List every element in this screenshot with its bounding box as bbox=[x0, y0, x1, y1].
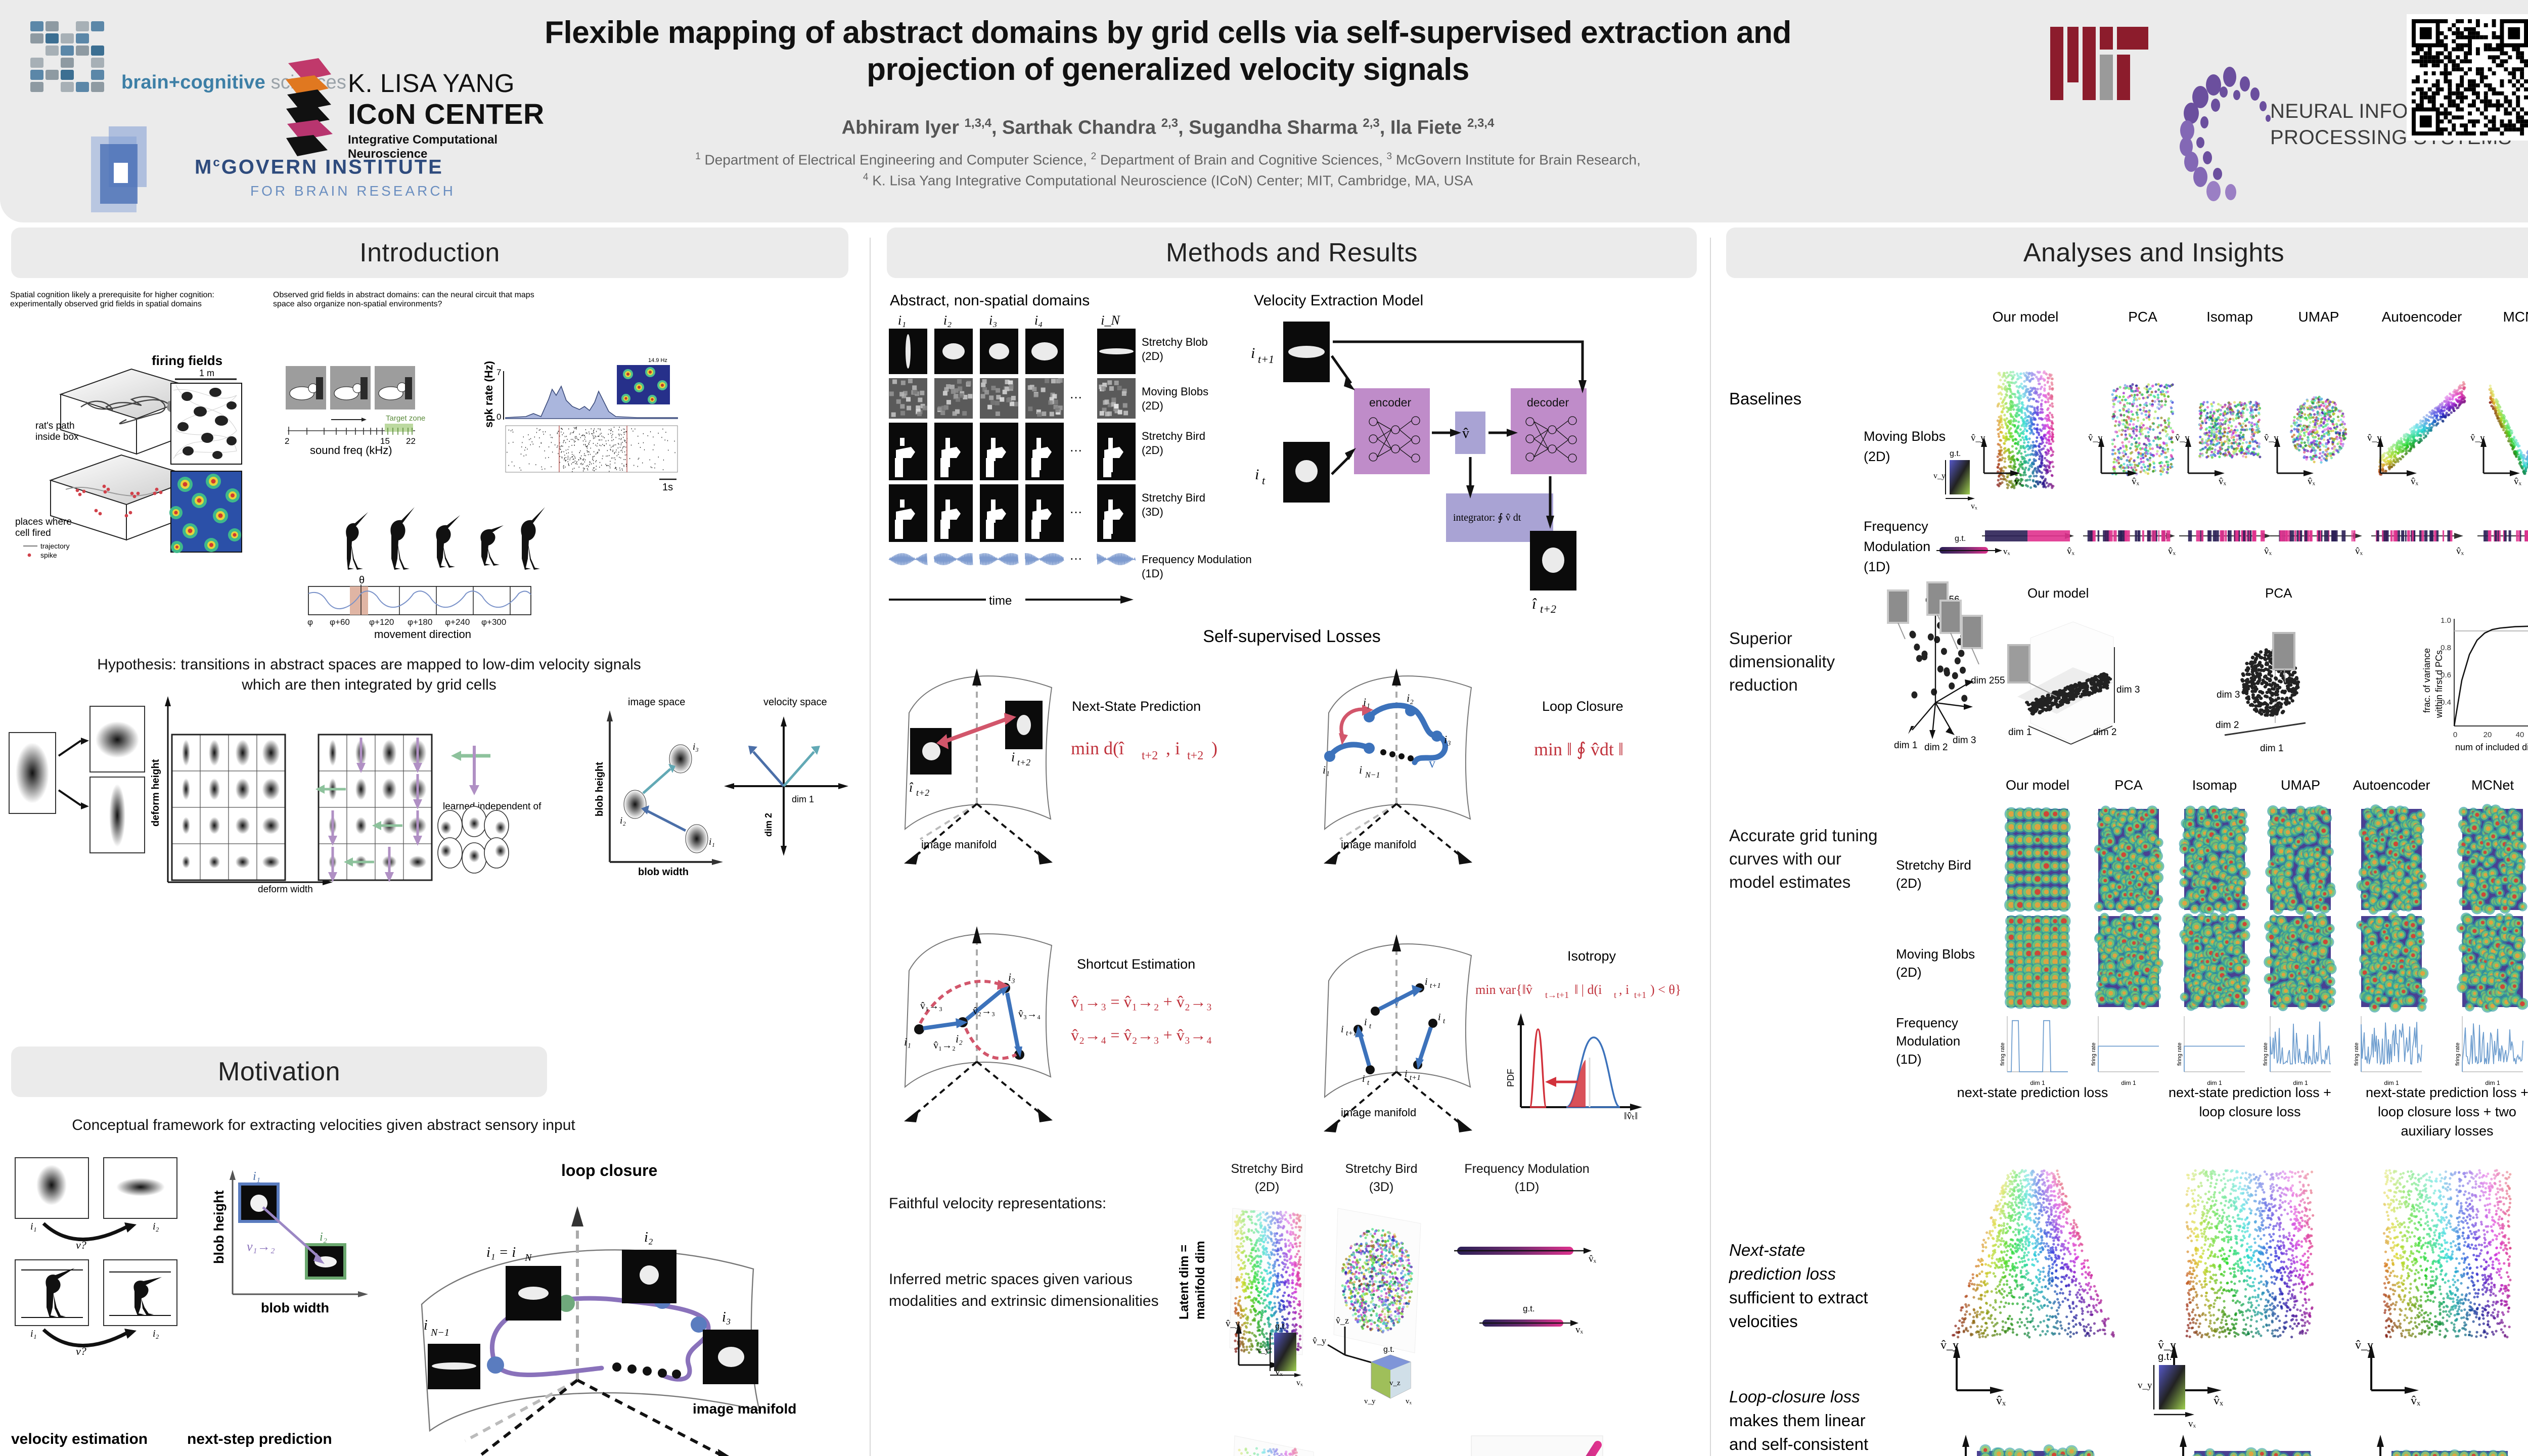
qr-code[interactable] bbox=[2407, 14, 2528, 141]
motivation-velocity-question-figure: i₁ i₂ v? i₁ i₂ v? bbox=[10, 1153, 192, 1390]
faithful-col-3b: (1D) bbox=[1515, 1180, 1540, 1194]
column-analyses-insights: Analyses and Insights Baselines Our mode… bbox=[1719, 227, 2528, 1456]
ablation-figure: next-state prediction lossnext-state pre… bbox=[1876, 1082, 2528, 1456]
svg-text:t+1: t+1 bbox=[1410, 1074, 1421, 1082]
svg-text:Isomap: Isomap bbox=[2206, 309, 2253, 325]
xtick-3: 40 bbox=[2516, 731, 2524, 739]
svg-text:…: … bbox=[1069, 439, 1082, 454]
svg-text:…: … bbox=[1069, 386, 1082, 401]
svg-text:v̂_y: v̂_y bbox=[1313, 1336, 1326, 1346]
svg-text:i₂: i₂ bbox=[620, 815, 626, 826]
svg-text:i₁: i₁ bbox=[30, 1328, 37, 1339]
intro-right-caption: Observed grid fields in abstract domains… bbox=[273, 291, 536, 309]
svg-text:trajectory: trajectory bbox=[40, 542, 70, 550]
loop-closure-figure: loop closure i₁ = i N i₂ i₃ bbox=[399, 1158, 854, 1456]
pdf-axis-label: PDF bbox=[1506, 1069, 1516, 1087]
svg-text:manifold dim: manifold dim bbox=[1193, 1241, 1207, 1319]
nextstate-insight-rest: sufficient to extract velocities bbox=[1729, 1288, 1868, 1331]
spike-rate-figure: spk rate (Hz) 7 0 14.9 Hz 1s bbox=[485, 363, 688, 499]
baseline-row-2b: Modulation bbox=[1864, 539, 1930, 554]
svg-text:t+2: t+2 bbox=[916, 788, 929, 798]
dimred-panel-2: PCA bbox=[2265, 585, 2292, 601]
svg-text:, i: , i bbox=[1619, 982, 1629, 997]
svg-text:t+2: t+2 bbox=[1540, 603, 1556, 615]
tuning-curves-figure: Our modelPCAIsomapUMAPAutoencoderMCNet S… bbox=[1881, 773, 2528, 1097]
faithful-col-1a: Stretchy Bird bbox=[1231, 1162, 1303, 1176]
affiliation-line-1: 1 Department of Electrical Engineering a… bbox=[506, 150, 1830, 170]
svg-text:v̂₁→₃: v̂₁→₃ bbox=[920, 1000, 942, 1012]
gt-label-ablation: g.t. bbox=[2158, 1351, 2172, 1362]
blob-width-axis: blob width bbox=[261, 1300, 329, 1315]
loopclosure-insight-rest: makes them linear and self-consistent bbox=[1729, 1411, 1868, 1453]
column-methods-results: Methods and Results Abstract, non-spatia… bbox=[880, 227, 1704, 1456]
svg-text:N: N bbox=[524, 1252, 532, 1263]
svg-text:22: 22 bbox=[406, 436, 416, 446]
svg-text:i: i bbox=[424, 1317, 428, 1333]
self-supervised-losses-figure: î t+2 i t+2 image manifold Next-State Pr… bbox=[885, 647, 1699, 1153]
svg-text:i₁: i₁ bbox=[1323, 763, 1330, 776]
affiliation-line-2: 4 K. Lisa Yang Integrative Computational… bbox=[506, 170, 1830, 191]
firing-fields-label: firing fields bbox=[152, 353, 222, 369]
svg-text:v̂_z: v̂_z bbox=[1336, 1315, 1349, 1326]
author-list: Abhiram Iyer 1,3,4, Sarthak Chandra 2,3,… bbox=[531, 116, 1805, 139]
faithful-col-3a: Frequency Modulation bbox=[1464, 1162, 1589, 1176]
xtick-2: 20 bbox=[2484, 731, 2492, 739]
abstract-domains-title: Abstract, non-spatial domains bbox=[890, 292, 1090, 309]
svg-text:‖ | d(i: ‖ | d(i bbox=[1574, 982, 1602, 997]
svg-text:vₓ: vₓ bbox=[1296, 1379, 1303, 1387]
shortcut-formula-2: v̂₂→₄ = v̂₂→₃ + v̂₃→₄ bbox=[1071, 1026, 1212, 1044]
next-state-prediction-title: Next-State Prediction bbox=[1072, 699, 1201, 714]
svg-text:v̂: v̂ bbox=[1429, 756, 1435, 770]
abstract-domains-grid: i₁i₂i₃i₄i_N ………… Stretchy Blob(2D)Moving… bbox=[885, 312, 1229, 611]
movement-direction-figure: θ φφ+60φ+120 φ+180φ+240φ+300 movement di… bbox=[298, 576, 551, 642]
next-state-prediction-formula: min d(î bbox=[1071, 738, 1124, 758]
theta-label: θ bbox=[359, 575, 365, 586]
sound-freq-axis-label: sound freq (kHz) bbox=[310, 444, 392, 457]
spk-rate-axis-label: spk rate (Hz) bbox=[482, 361, 495, 428]
tuning-row-3b: Modulation bbox=[1896, 1033, 1960, 1049]
faithful-text-1: Faithful velocity representations: bbox=[889, 1193, 1162, 1215]
neurips-swirl-icon bbox=[2169, 66, 2280, 202]
image-manifold-label-b: image manifold bbox=[1341, 838, 1416, 851]
section-header-motivation: Motivation bbox=[11, 1046, 547, 1097]
sound-frequency-figure: Target zone 2 15 22 sound freq (kHz) bbox=[276, 364, 488, 495]
qr-code-icon bbox=[2412, 19, 2528, 135]
svg-text:i: i bbox=[1405, 1068, 1408, 1079]
svg-text:i: i bbox=[1425, 976, 1428, 987]
latent-eq-row-label: Latent dim = bbox=[1177, 1245, 1191, 1319]
svg-text:v̂_y: v̂_y bbox=[1226, 1318, 1240, 1329]
dimred-panel-1: Our model bbox=[2027, 585, 2089, 601]
dim3-label-left: dim 3 bbox=[1953, 735, 1976, 746]
losses-title: Self-supervised Losses bbox=[880, 627, 1704, 647]
svg-text:v_y: v_y bbox=[1257, 1346, 1269, 1355]
tuning-row-1b: (2D) bbox=[1896, 876, 1922, 891]
ytick-1: 1.0 bbox=[2441, 616, 2451, 625]
svg-text:i: i bbox=[1011, 750, 1015, 764]
svg-text:1 m: 1 m bbox=[199, 368, 214, 378]
svg-text:2: 2 bbox=[285, 436, 289, 446]
mcgovern-logo: McGOVERN INSTITUTE FOR BRAIN RESEARCH bbox=[76, 126, 531, 220]
hypothesis-caption: Hypothesis: transitions in abstract spac… bbox=[96, 655, 642, 695]
dim1-label-left: dim 1 bbox=[1894, 740, 1917, 751]
blob-height-label: blob height bbox=[594, 762, 605, 816]
vhat-norm-axis-label: ‖v̂ₜ‖ bbox=[1624, 1111, 1638, 1122]
tuning-row-3a: Frequency bbox=[1896, 1015, 1958, 1030]
svg-text:i₂: i₂ bbox=[956, 1032, 963, 1045]
dim2-label: dim 2 bbox=[763, 813, 774, 837]
tuning-label: Accurate grid tuning curves with our mod… bbox=[1729, 824, 1881, 894]
gt-label-3d: g.t. bbox=[1383, 1345, 1394, 1354]
svg-text:(1D): (1D) bbox=[1142, 567, 1163, 580]
affiliations: 1 Department of Electrical Engineering a… bbox=[506, 150, 1830, 191]
svg-text:N−1: N−1 bbox=[430, 1327, 449, 1338]
faithful-col-1b: (2D) bbox=[1255, 1180, 1280, 1194]
poster-header: brain+cognitive sciences K. LISA YANG IC… bbox=[0, 0, 2528, 222]
svg-text:(1D): (1D) bbox=[1864, 559, 1890, 574]
bcs-logo: brain+cognitive sciences bbox=[30, 21, 278, 102]
svg-text:i₁: i₁ bbox=[253, 1170, 260, 1183]
svg-text:Stretchy Bird: Stretchy Bird bbox=[1142, 430, 1205, 442]
decoder-label: decoder bbox=[1527, 396, 1569, 409]
places-where-cell-fired-label: places where bbox=[15, 517, 72, 527]
blob-space-figure: blob height blob width i₁ i₂ v₁→₂ bbox=[192, 1168, 394, 1330]
svg-text:t+2: t+2 bbox=[1187, 749, 1203, 762]
svg-text:0: 0 bbox=[496, 412, 501, 422]
svg-text:(3D): (3D) bbox=[1142, 506, 1163, 518]
intro-left-caption: Spatial cognition likely a prerequisite … bbox=[10, 291, 263, 309]
svg-text:7: 7 bbox=[496, 368, 501, 377]
svg-text:i₂: i₂ bbox=[320, 1231, 327, 1244]
svg-text:i: i bbox=[1255, 466, 1259, 483]
svg-text:i₂: i₂ bbox=[943, 313, 952, 328]
isotropy-title: Isotropy bbox=[1567, 948, 1616, 964]
nextstate-insight-text: Next-state prediction loss sufficient to… bbox=[1729, 1239, 1881, 1333]
column-divider-1 bbox=[870, 238, 871, 1456]
mcgovern-logo-mark-icon bbox=[86, 126, 172, 215]
encoder-label: encoder bbox=[1369, 396, 1411, 409]
dim1-label: dim 1 bbox=[792, 794, 814, 804]
loop-closure-title: loop closure bbox=[561, 1161, 657, 1179]
svg-text:φ+300: φ+300 bbox=[481, 617, 506, 627]
svg-text:i: i bbox=[1341, 1024, 1344, 1035]
shortcut-formula-1: v̂₁→₃ = v̂₁→₂ + v̂₂→₃ bbox=[1071, 992, 1212, 1011]
svg-text:…: … bbox=[1069, 548, 1082, 563]
gt-label-baselines: g.t. bbox=[1950, 449, 1961, 458]
blob-width-label: blob width bbox=[638, 867, 689, 878]
loopclosure-insight-emph: Loop-closure loss bbox=[1729, 1387, 1860, 1406]
hypothesis-figure: deform height deform width learned indep… bbox=[5, 695, 860, 892]
tuning-row-1a: Stretchy Bird bbox=[1896, 857, 1971, 873]
motivation-caption: Conceptual framework for extracting velo… bbox=[46, 1115, 602, 1135]
image-manifold-label-c: image manifold bbox=[1341, 1106, 1416, 1119]
baseline-row-2a: Frequency bbox=[1864, 519, 1928, 534]
svg-text:i₂: i₂ bbox=[153, 1328, 159, 1339]
dim3-label-om: dim 3 bbox=[2116, 685, 2140, 695]
gt-label-fm-baselines: g.t. bbox=[1955, 534, 1966, 543]
poster-root: brain+cognitive sciences K. LISA YANG IC… bbox=[0, 0, 2528, 1456]
deform-width-label: deform width bbox=[258, 884, 313, 895]
svg-text:t: t bbox=[1262, 474, 1266, 487]
tuning-row-2b: (2D) bbox=[1896, 965, 1922, 980]
svg-text:v̂₁→₂: v̂₁→₂ bbox=[933, 1040, 956, 1051]
dim1-label-om: dim 1 bbox=[2008, 727, 2032, 738]
svg-text:v₁→₂: v₁→₂ bbox=[247, 1239, 275, 1254]
svg-text:rat's path: rat's path bbox=[35, 421, 75, 431]
faithful-col-2b: (3D) bbox=[1369, 1180, 1394, 1194]
target-zone-label: Target zone bbox=[386, 414, 425, 423]
svg-text:i₁ = i: i₁ = i bbox=[486, 1245, 516, 1260]
dim2-label-om: dim 2 bbox=[2093, 727, 2116, 738]
svg-text:v̂₂→₃: v̂₂→₃ bbox=[973, 1006, 995, 1017]
left-logo-group: brain+cognitive sciences K. LISA YANG IC… bbox=[20, 10, 541, 212]
svg-text:i_N: i_N bbox=[1101, 313, 1120, 328]
shortcut-estimation-title: Shortcut Estimation bbox=[1077, 957, 1195, 972]
dimred-label: Superior dimensionality reduction bbox=[1729, 627, 1876, 697]
velocity-extraction-model-figure: i t+1 i t encoder v̂ decoder bbox=[1229, 312, 1684, 616]
isotropy-formula: min var{‖v̂ bbox=[1475, 982, 1532, 997]
column-introduction: Introduction Spatial cognition likely a … bbox=[0, 227, 860, 1456]
bcs-logo-text-primary: brain+cognitive bbox=[121, 72, 265, 93]
svg-text:i₁: i₁ bbox=[898, 313, 906, 328]
dim2-label-left: dim 2 bbox=[1924, 742, 1948, 753]
svg-text:Our model: Our model bbox=[1993, 309, 2059, 325]
svg-text:i₁: i₁ bbox=[1363, 696, 1370, 708]
movement-direction-label: movement direction bbox=[374, 628, 471, 641]
next-step-prediction-label: next-step prediction bbox=[187, 1431, 332, 1448]
svg-text:φ+60: φ+60 bbox=[330, 617, 350, 627]
baselines-figure: Our modelPCAIsomapUMAPAutoencoderMCNet M… bbox=[1845, 303, 2528, 591]
svg-text:φ: φ bbox=[307, 617, 313, 627]
svg-text:t+1: t+1 bbox=[1634, 990, 1646, 1000]
page-title: Flexible mapping of abstract domains by … bbox=[531, 14, 1805, 88]
svg-text:…: … bbox=[1069, 501, 1082, 516]
mcgovern-line1: McGOVERN INSTITUTE bbox=[195, 156, 443, 178]
svg-text:t: t bbox=[1614, 990, 1616, 1000]
svg-text:PCA: PCA bbox=[2128, 309, 2157, 325]
svg-text:i₂: i₂ bbox=[1407, 692, 1414, 704]
svg-text:Stretchy Bird: Stretchy Bird bbox=[1142, 491, 1205, 504]
svg-text:î: î bbox=[1532, 596, 1537, 612]
svg-text:cell fired: cell fired bbox=[15, 528, 51, 538]
svg-text:inside box: inside box bbox=[35, 432, 79, 442]
svg-text:i₃: i₃ bbox=[1444, 733, 1451, 746]
tuning-row-2a: Moving Blobs bbox=[1896, 946, 1975, 962]
gt-label-2d: g.t. bbox=[1275, 1322, 1286, 1331]
svg-text:i: i bbox=[1359, 763, 1362, 776]
svg-text:v̂₃→₄: v̂₃→₄ bbox=[1018, 1009, 1041, 1020]
svg-text:1s: 1s bbox=[662, 482, 673, 493]
faithful-col-2a: Stretchy Bird bbox=[1345, 1162, 1417, 1176]
dim3-label-pca: dim 3 bbox=[2217, 690, 2240, 700]
nextstate-insight-emph: Next-state prediction loss bbox=[1729, 1241, 1836, 1283]
svg-text:Moving Blobs: Moving Blobs bbox=[1142, 385, 1208, 398]
svg-text:i₂: i₂ bbox=[153, 1221, 159, 1232]
svg-text:(2D): (2D) bbox=[1142, 444, 1163, 457]
hz-label: 14.9 Hz bbox=[648, 357, 667, 363]
svg-text:t+1: t+1 bbox=[1430, 982, 1441, 990]
svg-text:v̂: v̂ bbox=[1462, 426, 1469, 441]
svg-text:i₁: i₁ bbox=[30, 1221, 37, 1232]
svg-text:vₓ: vₓ bbox=[1575, 1325, 1584, 1335]
mcgovern-line2: FOR BRAIN RESEARCH bbox=[250, 183, 456, 199]
svg-text:i₁: i₁ bbox=[709, 837, 715, 847]
svg-text:v_z: v_z bbox=[1389, 1379, 1401, 1387]
section-title-introduction: Introduction bbox=[359, 238, 500, 268]
svg-text:i: i bbox=[1364, 1017, 1367, 1028]
image-manifold-label-a: image manifold bbox=[921, 838, 997, 851]
svg-text:, i: , i bbox=[1166, 738, 1180, 758]
svg-text:vₓ: vₓ bbox=[1406, 1397, 1412, 1405]
faithful-velocity-figure: Stretchy Bird (2D) Stretchy Bird (3D) Fr… bbox=[1173, 1153, 1699, 1456]
variance-xlabel: num of included dims (d) bbox=[2455, 742, 2528, 752]
loop-closure-formula: min ‖ ∮ v̂dt ‖ bbox=[1534, 739, 1623, 759]
variance-ylabel: frac. of variance bbox=[2422, 648, 2432, 713]
svg-text:UMAP: UMAP bbox=[2298, 309, 2339, 325]
column-divider-2 bbox=[1710, 238, 1711, 1456]
svg-text:v_y: v_y bbox=[1364, 1397, 1376, 1405]
svg-text:) < θ}: ) < θ} bbox=[1650, 982, 1681, 997]
svg-text:(2D): (2D) bbox=[1142, 350, 1163, 362]
svg-text:i₃: i₃ bbox=[989, 313, 997, 328]
svg-text:i₁: i₁ bbox=[904, 1035, 911, 1048]
velocity-estimation-label: velocity estimation bbox=[11, 1431, 148, 1448]
section-title-methods: Methods and Results bbox=[1166, 238, 1418, 268]
svg-text:Stretchy Blob: Stretchy Blob bbox=[1142, 336, 1208, 348]
section-header-methods: Methods and Results bbox=[887, 227, 1697, 278]
svg-text:i₄: i₄ bbox=[1034, 313, 1043, 328]
svg-text:(2D): (2D) bbox=[1142, 399, 1163, 412]
deform-height-label: deform height bbox=[150, 759, 161, 827]
svg-text:i₃: i₃ bbox=[693, 742, 699, 752]
svg-text:φ+240: φ+240 bbox=[445, 617, 470, 627]
svg-text:i₂: i₂ bbox=[644, 1230, 653, 1245]
svg-text:t+1: t+1 bbox=[1346, 1029, 1357, 1037]
dim2-label-pca: dim 2 bbox=[2216, 720, 2239, 731]
svg-text:): ) bbox=[1211, 738, 1217, 758]
svg-text:MCNet: MCNet bbox=[2503, 309, 2528, 325]
svg-text:v?: v? bbox=[76, 1239, 86, 1251]
image-space-label: image space bbox=[628, 697, 685, 708]
svg-text:i: i bbox=[1362, 1073, 1365, 1084]
baselines-label: Baselines bbox=[1729, 389, 1801, 408]
icon-center-line1: K. LISA YANG bbox=[348, 68, 515, 98]
firing-fields-figure: 1 m bbox=[161, 370, 247, 562]
learned-independent-label: learned independent of bbox=[443, 801, 541, 812]
svg-text:t+1: t+1 bbox=[1258, 353, 1274, 366]
velocity-nextstep-figure: v̂ = f( i₁ , i₂ ) v̂ î₂ = g( i₁ , v̂ ) bbox=[10, 1453, 374, 1456]
svg-text:v?: v? bbox=[76, 1345, 86, 1357]
gt-label-fm: g.t. bbox=[1523, 1304, 1535, 1313]
svg-text:i: i bbox=[1251, 345, 1255, 361]
svg-text:t+2: t+2 bbox=[1017, 757, 1030, 767]
svg-text:spike: spike bbox=[40, 551, 57, 559]
dim1-label-pca: dim 1 bbox=[2260, 743, 2283, 754]
svg-text:t: t bbox=[1367, 1079, 1370, 1087]
integrator-label: integrator: ∮ v̂ dt bbox=[1453, 512, 1521, 523]
baseline-row-1b: (2D) bbox=[1864, 449, 1890, 464]
svg-text:v̂: v̂ bbox=[1393, 996, 1400, 1009]
svg-text:Autoencoder: Autoencoder bbox=[2382, 309, 2462, 325]
svg-text:v̂ₓ: v̂ₓ bbox=[1589, 1254, 1597, 1264]
blob-height-axis: blob height bbox=[211, 1191, 227, 1264]
section-header-analyses: Analyses and Insights bbox=[1726, 227, 2528, 278]
time-axis-label: time bbox=[989, 594, 1012, 608]
svg-text:t→t+1: t→t+1 bbox=[1545, 990, 1569, 1000]
loop-closure-title: Loop Closure bbox=[1542, 699, 1623, 714]
mit-logo-icon bbox=[2050, 18, 2161, 104]
svg-text:t+2: t+2 bbox=[1142, 749, 1158, 762]
baseline-row-1a: Moving Blobs bbox=[1864, 429, 1946, 444]
faithful-text-2: Inferred metric spaces given various mod… bbox=[889, 1269, 1162, 1312]
velocity-space-label: velocity space bbox=[763, 697, 827, 708]
dimensionality-reduction-figure: dim 256 dim 255 dim 1 dim 2 dim 3 Our mo… bbox=[1881, 576, 2528, 768]
image-manifold-label: image manifold bbox=[693, 1401, 796, 1417]
bird-morph-figure bbox=[324, 508, 546, 574]
svg-text:φ+120: φ+120 bbox=[369, 617, 394, 627]
dim255-label: dim 255 bbox=[1971, 675, 2005, 686]
svg-text:i: i bbox=[1438, 1012, 1441, 1023]
section-title-analyses: Analyses and Insights bbox=[2023, 238, 2284, 268]
section-title-motivation: Motivation bbox=[218, 1057, 340, 1087]
velocity-model-title: Velocity Extraction Model bbox=[1254, 292, 1423, 309]
svg-text:i₃: i₃ bbox=[722, 1309, 731, 1325]
loopclosure-insight-text: Loop-closure loss makes them linear and … bbox=[1729, 1385, 1886, 1456]
section-header-introduction: Introduction bbox=[11, 227, 848, 278]
svg-text:φ+180: φ+180 bbox=[408, 617, 432, 627]
svg-text:N−1: N−1 bbox=[1365, 771, 1380, 780]
xtick-1: 0 bbox=[2453, 731, 2457, 739]
svg-text:i₃: i₃ bbox=[1008, 971, 1015, 983]
